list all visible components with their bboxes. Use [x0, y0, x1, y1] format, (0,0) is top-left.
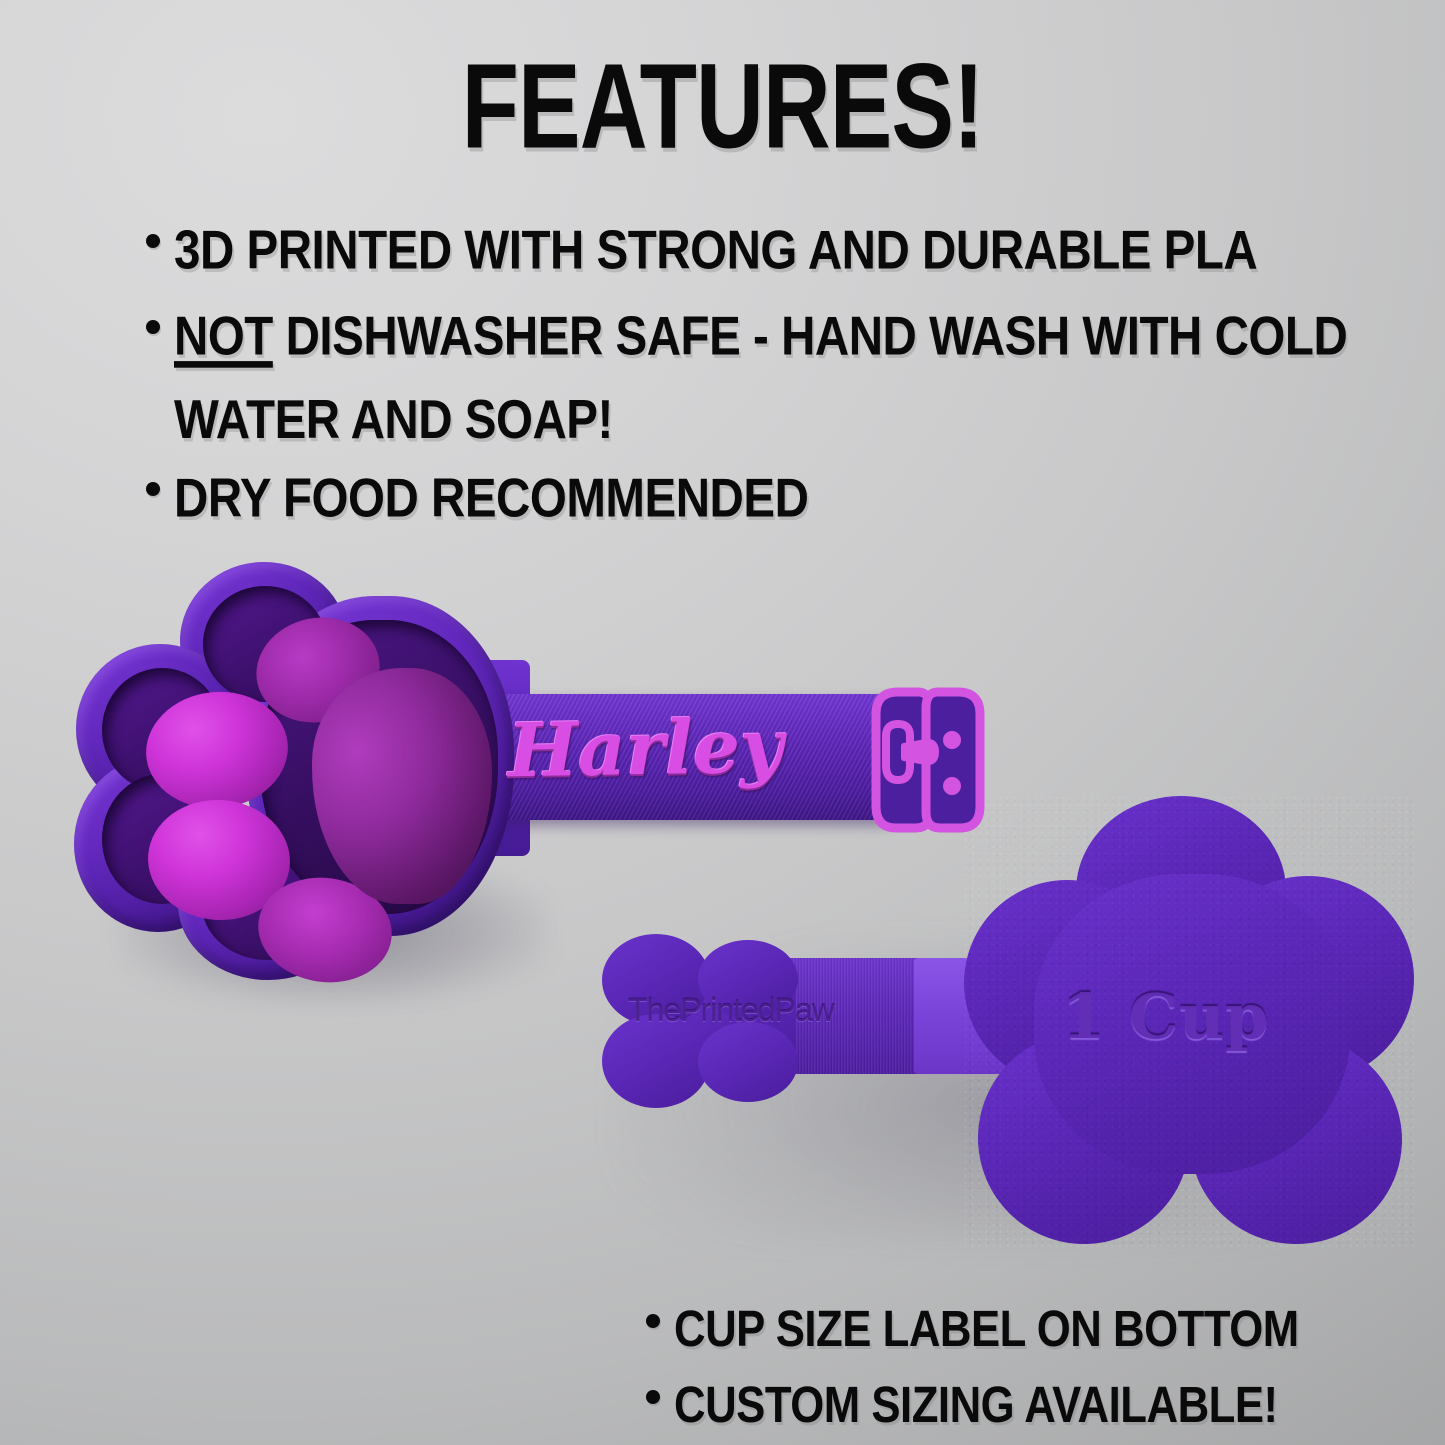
bone-end-cap: ThePrintedPaw — [602, 930, 812, 1110]
feature-item-custom-size: CUSTOM SIZING AVAILABLE! — [646, 1368, 1436, 1434]
feature-item-handwash: NOT DISHWASHER SAFE - HAND WASH WITH COL… — [146, 294, 1426, 446]
feature-text-dry-food: DRY FOOD RECOMMENDED — [174, 456, 808, 540]
page-title: FEATURES! — [58, 38, 1387, 176]
feature-text-handwash-rest: DISHWASHER SAFE - HAND WASH WITH COLD WA… — [174, 305, 1347, 450]
cup-size-engraving: 1 Cup — [1062, 980, 1270, 1053]
feature-text-cup-label: CUP SIZE LABEL ON BOTTOM — [674, 1292, 1299, 1365]
infographic-canvas: FEATURES! 3D PRINTED WITH STRONG AND DUR… — [0, 0, 1445, 1445]
paw-underside-head: 1 Cup — [964, 796, 1414, 1248]
bullet-dot-icon — [146, 482, 160, 496]
bottom-feature-list: CUP SIZE LABEL ON BOTTOM CUSTOM SIZING A… — [646, 1292, 1436, 1444]
feature-list: 3D PRINTED WITH STRONG AND DURABLE PLA N… — [146, 208, 1426, 542]
dog-face-icon — [846, 680, 1010, 840]
feature-item-pla: 3D PRINTED WITH STRONG AND DURABLE PLA — [146, 208, 1426, 284]
product-paw-scoop-back: ThePrintedPaw 1 Cup — [596, 790, 1396, 1260]
bullet-dot-icon — [146, 320, 160, 334]
bullet-dot-icon — [646, 1314, 660, 1328]
feature-text-custom-size: CUSTOM SIZING AVAILABLE! — [674, 1368, 1278, 1441]
bullet-dot-icon — [146, 234, 160, 248]
brand-engraving: ThePrintedPaw — [628, 992, 958, 1029]
feature-emphasis-not: NOT — [174, 305, 273, 367]
bone-lobe — [698, 1022, 798, 1102]
feature-item-dry-food: DRY FOOD RECOMMENDED — [146, 456, 1426, 532]
bullet-dot-icon — [646, 1390, 660, 1404]
name-engraving: Harley — [507, 704, 784, 795]
paw-bowl-cavity — [60, 556, 530, 986]
feature-text-handwash: NOT DISHWASHER SAFE - HAND WASH WITH COL… — [174, 294, 1363, 461]
feature-item-cup-label: CUP SIZE LABEL ON BOTTOM — [646, 1292, 1436, 1358]
feature-text-pla: 3D PRINTED WITH STRONG AND DURABLE PLA — [174, 208, 1257, 292]
